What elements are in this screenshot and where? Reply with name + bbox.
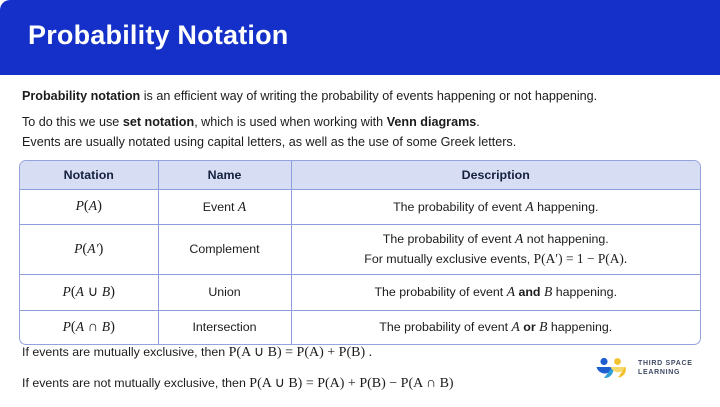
intro-line-2-part-b: , which is used when working with: [194, 115, 387, 129]
footer-formula-block: If events are mutually exclusive, then P…: [22, 342, 582, 404]
description-intersection-connector-or: or: [520, 320, 539, 334]
intro-text-block: Probability notation is an efficient way…: [22, 86, 706, 152]
name-var-a: A: [238, 199, 246, 214]
table-header: Notation Name Description: [20, 161, 700, 189]
math-union-symbol: ∪: [84, 284, 102, 300]
cell-notation-intersection: P(A ∩ B): [20, 310, 158, 344]
brand-logo: THIRD SPACE LEARNING: [592, 356, 693, 380]
description-complement-line-2: For mutually exclusive events, P(A′) = 1…: [296, 249, 697, 269]
cell-name-union: Union: [158, 274, 291, 310]
description-union: The probability of event A and B happeni…: [374, 285, 617, 299]
column-header-name: Name: [158, 161, 291, 189]
table-body: P(A) Event A The probability of event A …: [20, 189, 700, 344]
formula-not-mutually-exclusive-text: If events are not mutually exclusive, th…: [22, 376, 249, 390]
math-var-b: B: [102, 319, 110, 334]
notation-table: Notation Name Description P(A) Event A T…: [20, 161, 700, 344]
cell-description-union: The probability of event A and B happeni…: [291, 274, 700, 310]
description-complement-part-b: not happening.: [523, 232, 608, 246]
description-union-part-b: happening.: [552, 285, 617, 299]
cell-description-event: The probability of event A happening.: [291, 189, 700, 224]
intro-line-2-part-a: To do this we use: [22, 115, 123, 129]
description-intersection-var-a: A: [512, 319, 520, 334]
description-event-var-a: A: [525, 199, 533, 214]
description-union-var-b: B: [544, 284, 552, 299]
logo-text-line-1: THIRD SPACE: [638, 359, 693, 369]
logo-wordmark: THIRD SPACE LEARNING: [638, 359, 693, 378]
math-var-a: A: [76, 284, 84, 299]
description-complement-prefix: For mutually exclusive events,: [364, 252, 533, 266]
table-row: P(A′) Complement The probability of even…: [20, 224, 700, 274]
math-paren-close: ): [110, 284, 115, 300]
intro-line-2-bold-venn-diagrams: Venn diagrams: [387, 115, 477, 129]
math-symbol-p: P: [76, 198, 84, 213]
formula-not-mutually-exclusive-math: P(A ∪ B) = P(A) + P(B) − P(A ∩ B): [249, 376, 453, 391]
math-symbol-p: P: [63, 319, 71, 334]
math-intersection-symbol: ∩: [84, 319, 102, 335]
math-var-a: A: [89, 198, 97, 213]
intro-line-1-rest: is an efficient way of writing the proba…: [140, 89, 597, 103]
description-complement-line-1: The probability of event A not happening…: [296, 229, 697, 249]
cell-description-complement: The probability of event A not happening…: [291, 224, 700, 274]
cell-name-complement: Complement: [158, 224, 291, 274]
description-intersection-part-b: happening.: [547, 320, 612, 334]
intro-line-2-part-c: .: [476, 115, 480, 129]
table-row: P(A) Event A The probability of event A …: [20, 189, 700, 224]
page-title: Probability Notation: [28, 20, 289, 51]
intro-line-3: Events are usually notated using capital…: [22, 132, 706, 152]
description-union-connector-and: and: [515, 285, 544, 299]
intro-line-1: Probability notation is an efficient way…: [22, 86, 706, 106]
description-complement-part-a: The probability of event: [383, 232, 515, 246]
column-header-description: Description: [291, 161, 700, 189]
math-p-of-a-intersect-b: P(A ∩ B): [63, 319, 115, 335]
cell-notation-union: P(A ∪ B): [20, 274, 158, 310]
table-row: P(A ∩ B) Intersection The probability of…: [20, 310, 700, 344]
table-header-row: Notation Name Description: [20, 161, 700, 189]
math-p-of-a: P(A): [76, 198, 102, 214]
cell-notation-complement: P(A′): [20, 224, 158, 274]
math-paren-close: ): [110, 319, 115, 335]
column-header-notation: Notation: [20, 161, 158, 189]
cell-name-event: Event A: [158, 189, 291, 224]
intro-line-2-bold-set-notation: set notation: [123, 115, 194, 129]
intro-line-1-bold: Probability notation: [22, 89, 140, 103]
intro-line-2: To do this we use set notation, which is…: [22, 112, 706, 132]
notation-table-container: Notation Name Description P(A) Event A T…: [19, 160, 701, 345]
formula-mutually-exclusive-math: P(A ∪ B) = P(A) + P(B) .: [229, 345, 373, 360]
formula-mutually-exclusive-text: If events are mutually exclusive, then: [22, 345, 229, 359]
math-p-of-a-prime: P(A′): [74, 241, 103, 257]
description-intersection: The probability of event A or B happenin…: [379, 320, 612, 334]
third-space-learning-logo-icon: [592, 356, 632, 380]
formula-mutually-exclusive: If events are mutually exclusive, then P…: [22, 342, 582, 363]
math-var-b: B: [102, 284, 110, 299]
formula-not-mutually-exclusive: If events are not mutually exclusive, th…: [22, 373, 582, 394]
math-var-a: A: [87, 241, 95, 256]
cell-description-intersection: The probability of event A or B happenin…: [291, 310, 700, 344]
math-p-of-a-union-b: P(A ∪ B): [63, 284, 116, 300]
math-paren-close: ): [97, 198, 102, 214]
cell-name-intersection: Intersection: [158, 310, 291, 344]
description-event-part-b: happening.: [534, 200, 599, 214]
name-label-event: Event: [203, 200, 238, 214]
table-row: P(A ∪ B) Union The probability of event …: [20, 274, 700, 310]
description-intersection-part-a: The probability of event: [379, 320, 511, 334]
description-complement-formula: P(A′) = 1 − P(A).: [534, 251, 628, 266]
math-symbol-p: P: [63, 284, 71, 299]
description-event: The probability of event A happening.: [393, 200, 598, 214]
description-union-part-a: The probability of event: [374, 285, 506, 299]
description-event-part-a: The probability of event: [393, 200, 525, 214]
math-var-a: A: [76, 319, 84, 334]
math-paren-close: ): [99, 241, 104, 257]
description-union-var-a: A: [507, 284, 515, 299]
cell-notation-event: P(A): [20, 189, 158, 224]
header-banner: Probability Notation: [0, 0, 720, 75]
logo-text-line-2: LEARNING: [638, 368, 693, 378]
